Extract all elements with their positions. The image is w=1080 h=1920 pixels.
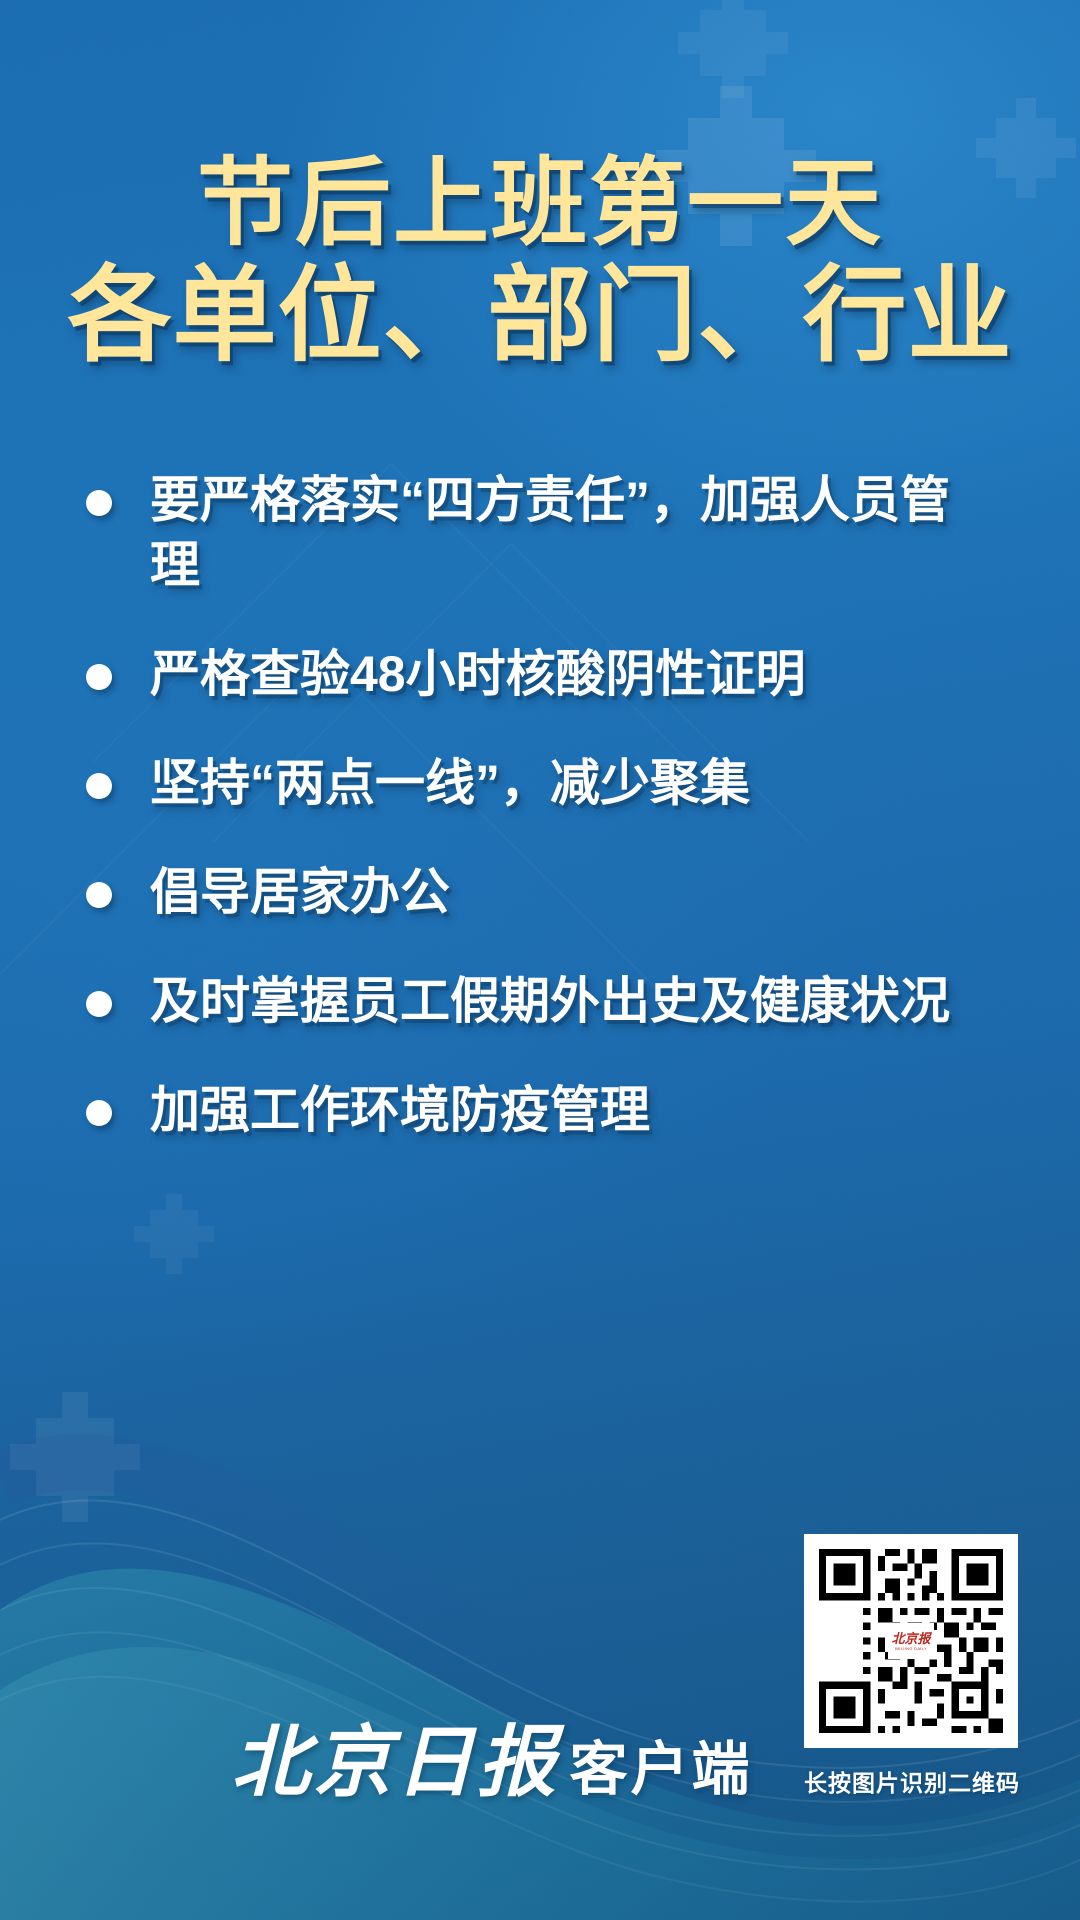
list-item: 严格查验48小时核酸阴性证明 xyxy=(86,642,996,707)
list-item-text: 倡导居家办公 xyxy=(150,860,996,925)
qr-logo-name: 北京报 xyxy=(891,1632,930,1645)
bullet-dot-icon xyxy=(86,1100,112,1126)
list-item-text: 要严格落实“四方责任”，加强人员管理 xyxy=(150,468,996,598)
bullet-dot-icon xyxy=(86,773,112,799)
title-line-2: 各单位、部门、行业 xyxy=(0,258,1080,376)
bullet-dot-icon xyxy=(86,664,112,690)
list-item: 坚持“两点一线”，减少聚集 xyxy=(86,751,996,816)
list-item-text: 及时掌握员工假期外出史及健康状况 xyxy=(150,969,996,1034)
qr-code-block: 北京报 BEIJING DAILY 长按图片识别二维码 xyxy=(804,1534,1018,1798)
qr-logo-subtitle: BEIJING DAILY xyxy=(895,1647,927,1651)
bullet-dot-icon xyxy=(86,490,112,516)
list-item-text: 严格查验48小时核酸阴性证明 xyxy=(150,642,996,707)
qr-code-image[interactable]: 北京报 BEIJING DAILY xyxy=(804,1534,1018,1748)
title-line-1: 节后上班第一天 xyxy=(0,150,1080,258)
poster-canvas: 节后上班第一天 各单位、部门、行业 要严格落实“四方责任”，加强人员管理 严格查… xyxy=(0,0,1080,1920)
medical-cross-icon xyxy=(700,10,766,76)
list-item-text: 加强工作环境防疫管理 xyxy=(150,1078,996,1143)
list-item-text: 坚持“两点一线”，减少聚集 xyxy=(150,751,996,816)
bullet-dot-icon xyxy=(86,991,112,1017)
poster-title: 节后上班第一天 各单位、部门、行业 xyxy=(0,150,1080,376)
list-item: 倡导居家办公 xyxy=(86,860,996,925)
qr-center-logo: 北京报 BEIJING DAILY xyxy=(888,1623,934,1659)
list-item: 要严格落实“四方责任”，加强人员管理 xyxy=(86,468,996,598)
bullet-dot-icon xyxy=(86,882,112,908)
guideline-list: 要严格落实“四方责任”，加强人员管理 严格查验48小时核酸阴性证明 坚持“两点一… xyxy=(86,468,996,1187)
list-item: 加强工作环境防疫管理 xyxy=(86,1078,996,1143)
list-item: 及时掌握员工假期外出史及健康状况 xyxy=(86,969,996,1034)
qr-caption: 长按图片识别二维码 xyxy=(804,1764,1018,1798)
